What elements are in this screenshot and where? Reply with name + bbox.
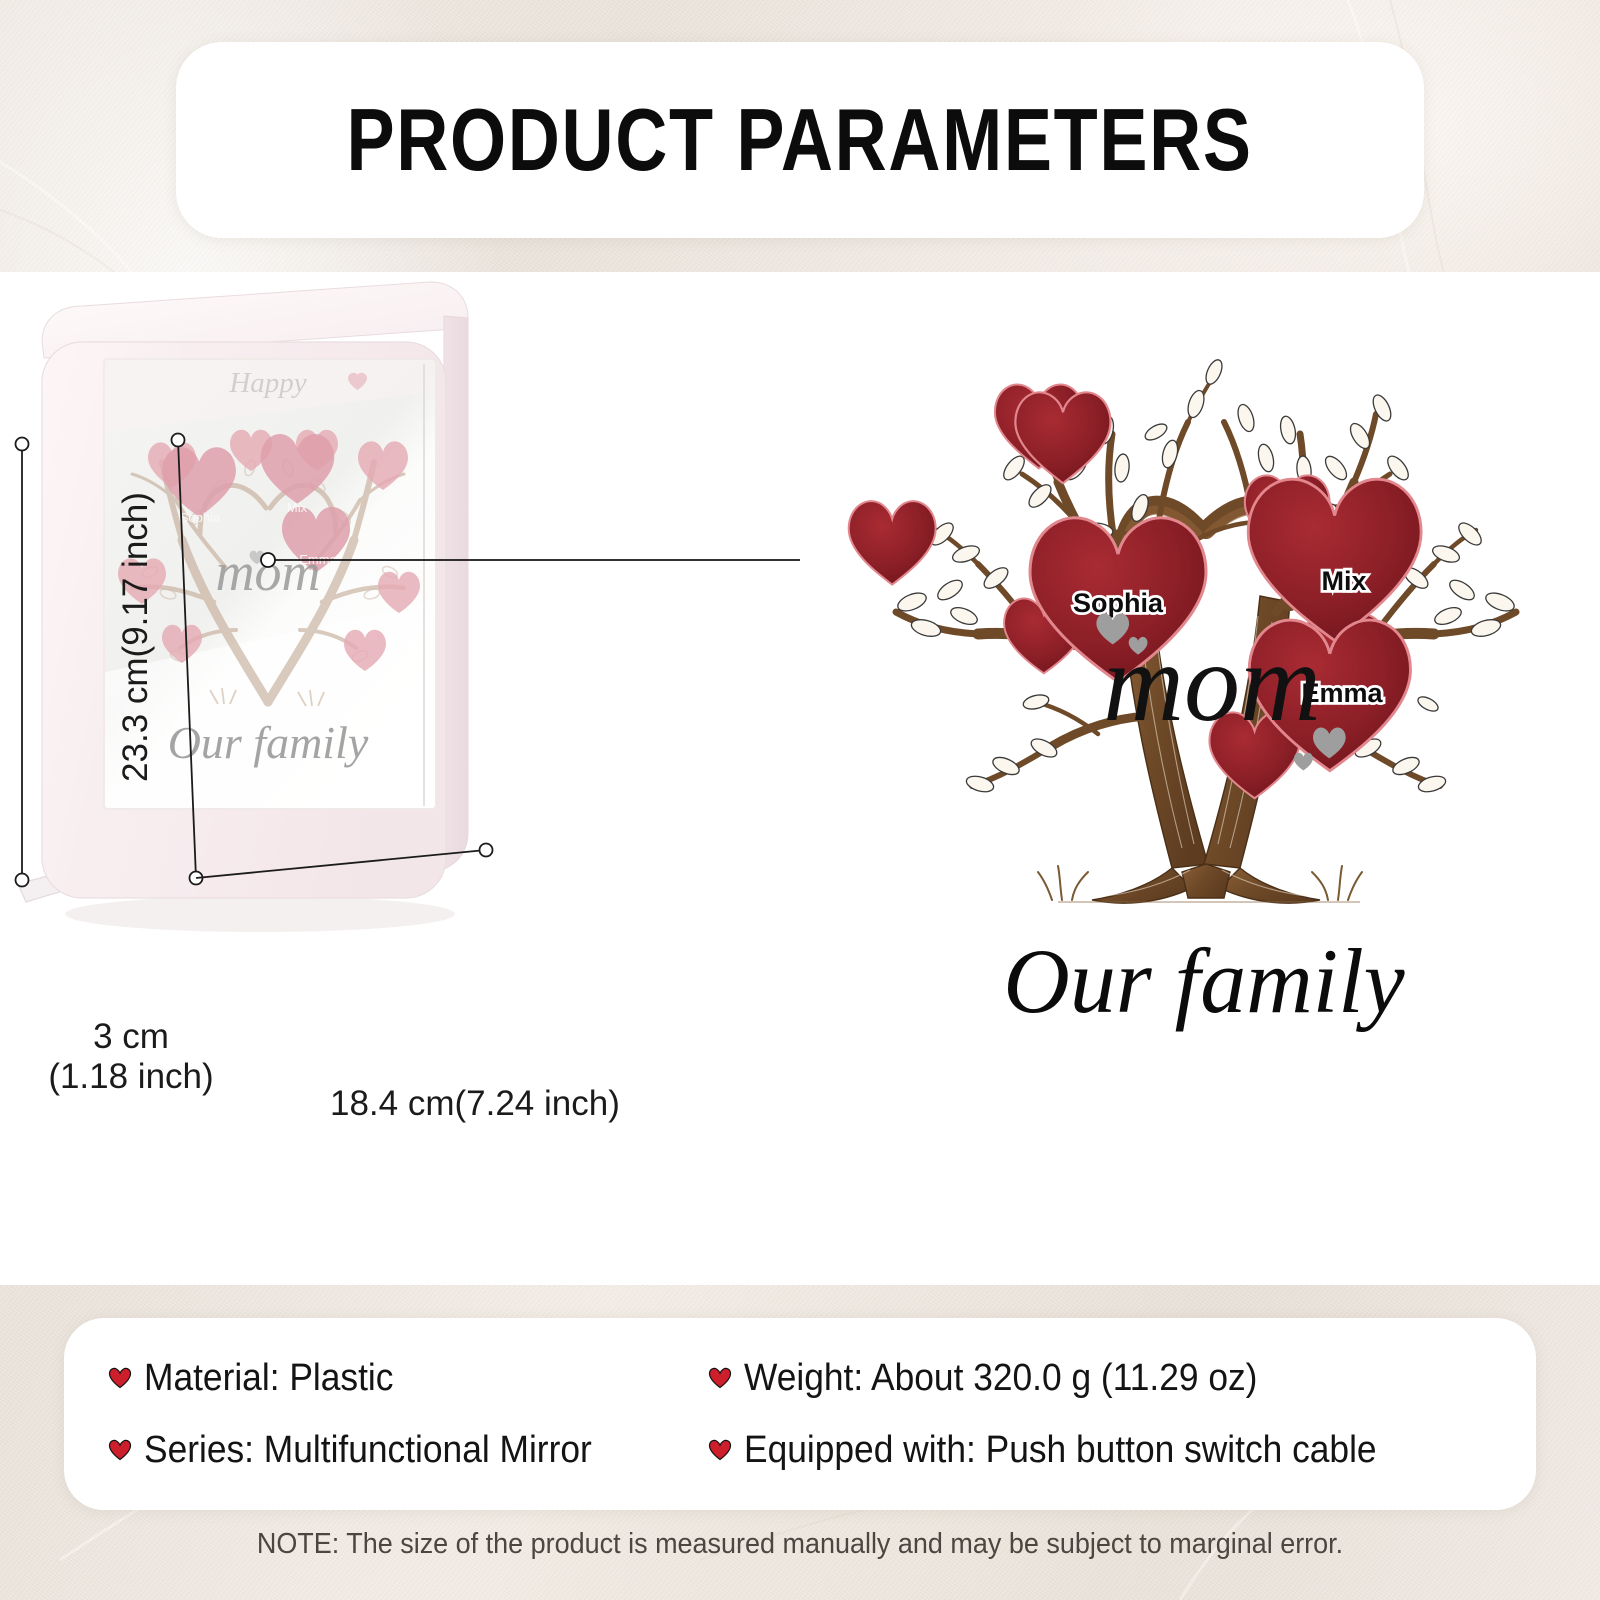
family-tree-artwork: Sophia Mix Emma mom Our family [800, 272, 1600, 1285]
heart-label-sophia: Sophia [1073, 588, 1164, 618]
artwork-callout: Sophia Mix Emma mom Our family [800, 272, 1600, 1285]
heart-icon [708, 1438, 732, 1462]
spec-item-material: Material: Plastic [108, 1357, 708, 1400]
page-title: PRODUCT PARAMETERS [347, 89, 1253, 191]
heart-label-mix: Mix [1321, 566, 1366, 596]
panel-caption-text: Our family [168, 717, 369, 768]
heart-icon [108, 1438, 132, 1462]
dimension-depth-label: 3 cm (1.18 inch) [36, 1017, 226, 1096]
note-text: NOTE: The size of the product is measure… [56, 1528, 1544, 1561]
heart-icon [708, 1366, 732, 1390]
product-diagram: Happy [0, 272, 800, 1285]
panel-mom-text: mom [216, 542, 321, 602]
title-card: PRODUCT PARAMETERS [176, 42, 1424, 238]
dimension-width-label: 18.4 cm(7.24 inch) [330, 1084, 620, 1124]
dimension-depth-line2: (1.18 inch) [48, 1057, 213, 1096]
specifications-card: Material: Plastic Weight: About 320.0 g … [64, 1318, 1536, 1510]
spec-item-weight: Weight: About 320.0 g (11.29 oz) [708, 1357, 1492, 1400]
spec-label-equipped-with: Equipped with: Push button switch cable [744, 1429, 1377, 1472]
spec-item-series: Series: Multifunctional Mirror [108, 1429, 708, 1472]
panel-happy-text: Happy [228, 367, 306, 399]
artwork-caption-text: Our family [1003, 930, 1404, 1032]
heart-icon [108, 1366, 132, 1390]
dimension-height-label: 23.3 cm(9.17 inch) [116, 467, 156, 807]
spec-label-series: Series: Multifunctional Mirror [144, 1429, 592, 1472]
panel-name-mix: Mix [287, 500, 308, 515]
panel-name-sophia: Sophia [180, 510, 221, 525]
spec-label-material: Material: Plastic [144, 1357, 393, 1400]
artwork-mom-text: mom [1103, 621, 1321, 745]
dimension-depth-line1: 3 cm [93, 1017, 169, 1056]
spec-label-weight: Weight: About 320.0 g (11.29 oz) [744, 1357, 1257, 1400]
spec-item-equipped-with: Equipped with: Push button switch cable [708, 1429, 1492, 1472]
